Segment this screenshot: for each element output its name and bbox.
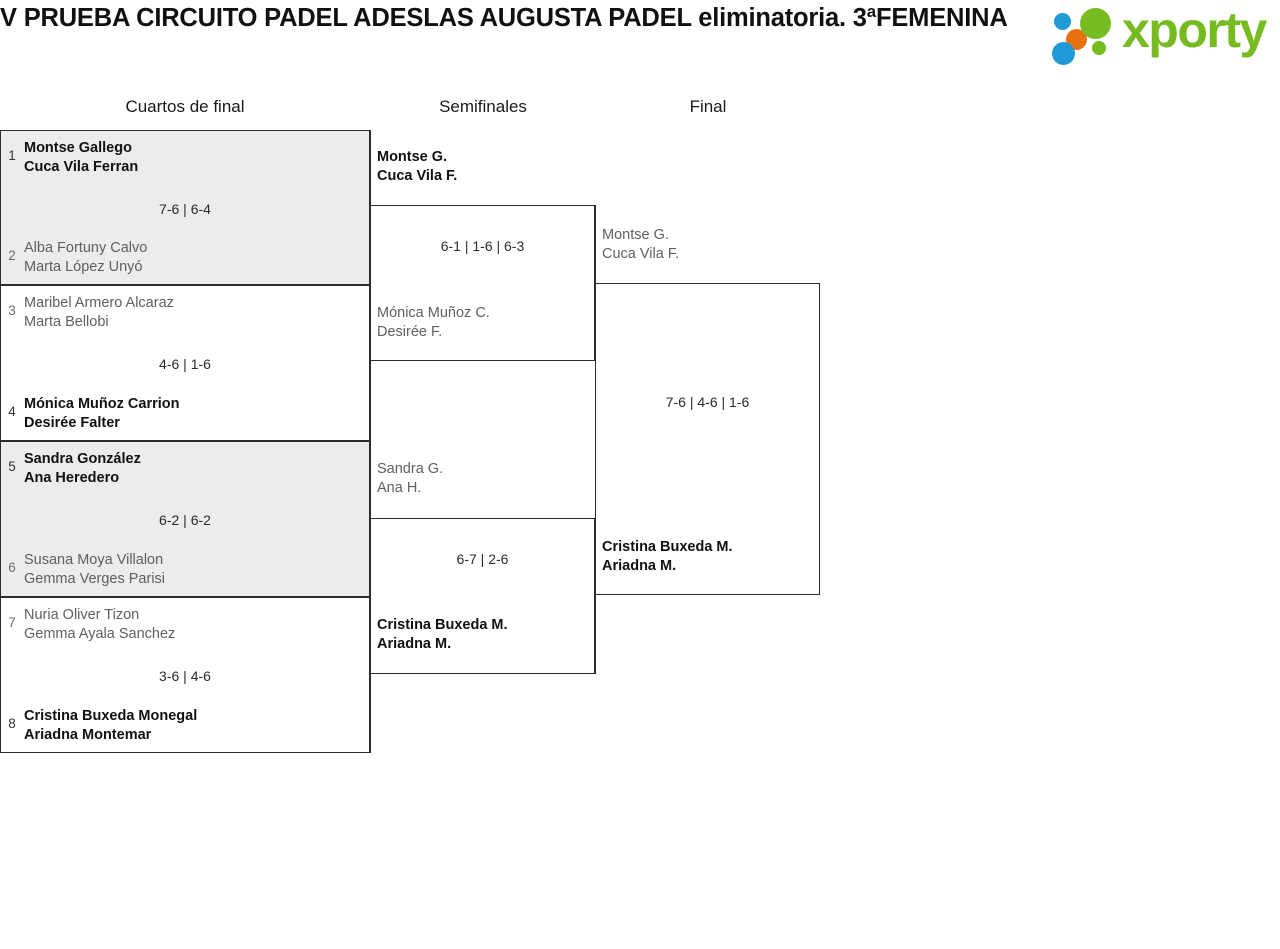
match-qf-3[interactable]: 5 Sandra González Ana Heredero 6-2 | 6-2… bbox=[0, 441, 370, 597]
player-name: Montse G. bbox=[377, 149, 447, 165]
team-qf-4-bottom[interactable]: 8 Cristina Buxeda Monegal Ariadna Montem… bbox=[0, 707, 197, 744]
player-name: Ariadna M. bbox=[602, 558, 676, 574]
bracket-connector-final-bottom bbox=[595, 595, 596, 674]
match-score: 4-6 | 1-6 bbox=[0, 355, 370, 373]
team-qf-1-top[interactable]: 1 Montse Gallego Cuca Vila Ferran bbox=[0, 139, 138, 176]
bracket-connector-sf-middle bbox=[370, 361, 371, 518]
bracket-rail-left bbox=[0, 130, 1, 753]
player-name: Desirée Falter bbox=[24, 414, 179, 433]
player-name: Ana H. bbox=[377, 480, 421, 496]
player-name: Maribel Armero Alcaraz bbox=[24, 294, 174, 313]
bracket-connector-sf2-bottom bbox=[370, 674, 371, 753]
team-names: Sandra González Ana Heredero bbox=[24, 450, 141, 487]
team-sf-1-bottom[interactable]: Mónica Muñoz C. Desirée F. bbox=[377, 304, 490, 341]
match-qf-4[interactable]: 7 Nuria Oliver Tizon Gemma Ayala Sanchez… bbox=[0, 597, 370, 753]
player-name: Mónica Muñoz C. bbox=[377, 305, 490, 321]
player-name: Cuca Vila F. bbox=[377, 168, 457, 184]
player-name: Sandra González bbox=[24, 450, 141, 469]
player-name: Ariadna M. bbox=[377, 636, 451, 652]
player-name: Cuca Vila F. bbox=[602, 246, 679, 262]
team-final-top[interactable]: Montse G. Cuca Vila F. bbox=[602, 226, 679, 263]
tournament-bracket: 1 Montse Gallego Cuca Vila Ferran 7-6 | … bbox=[0, 0, 1280, 949]
player-name: Montse G. bbox=[602, 227, 669, 243]
player-name: Ana Heredero bbox=[24, 469, 141, 488]
team-qf-3-bottom[interactable]: 6 Susana Moya Villalon Gemma Verges Pari… bbox=[0, 551, 165, 588]
seed-number: 7 bbox=[0, 606, 24, 632]
team-names: Susana Moya Villalon Gemma Verges Parisi bbox=[24, 551, 165, 588]
team-qf-4-top[interactable]: 7 Nuria Oliver Tizon Gemma Ayala Sanchez bbox=[0, 606, 175, 643]
player-name: Desirée F. bbox=[377, 324, 442, 340]
bracket-connector-sf1-top bbox=[370, 130, 371, 205]
team-sf-1-top[interactable]: Montse G. Cuca Vila F. bbox=[377, 148, 457, 185]
match-qf-2[interactable]: 3 Maribel Armero Alcaraz Marta Bellobi 4… bbox=[0, 285, 370, 441]
player-name: Gemma Verges Parisi bbox=[24, 570, 165, 589]
seed-number: 1 bbox=[0, 139, 24, 165]
team-sf-2-bottom[interactable]: Cristina Buxeda M. Ariadna M. bbox=[377, 616, 508, 653]
seed-number: 4 bbox=[0, 395, 24, 421]
team-qf-3-top[interactable]: 5 Sandra González Ana Heredero bbox=[0, 450, 141, 487]
team-names: Montse Gallego Cuca Vila Ferran bbox=[24, 139, 138, 176]
team-names: Maribel Armero Alcaraz Marta Bellobi bbox=[24, 294, 174, 331]
player-name: Montse Gallego bbox=[24, 139, 138, 158]
player-name: Gemma Ayala Sanchez bbox=[24, 625, 175, 644]
bracket-page: V PRUEBA CIRCUITO PADEL ADESLAS AUGUSTA … bbox=[0, 0, 1280, 949]
team-names: Alba Fortuny Calvo Marta López Unyó bbox=[24, 239, 147, 276]
match-qf-1[interactable]: 1 Montse Gallego Cuca Vila Ferran 7-6 | … bbox=[0, 130, 370, 285]
team-qf-2-bottom[interactable]: 4 Mónica Muñoz Carrion Desirée Falter bbox=[0, 395, 179, 432]
match-score: 7-6 | 4-6 | 1-6 bbox=[596, 393, 819, 411]
match-score: 6-1 | 1-6 | 6-3 bbox=[371, 237, 594, 255]
player-name: Marta Bellobi bbox=[24, 313, 174, 332]
match-score: 6-2 | 6-2 bbox=[0, 511, 370, 529]
team-names: Nuria Oliver Tizon Gemma Ayala Sanchez bbox=[24, 606, 175, 643]
seed-number: 5 bbox=[0, 450, 24, 476]
player-name: Cristina Buxeda M. bbox=[377, 617, 508, 633]
team-sf-2-top[interactable]: Sandra G. Ana H. bbox=[377, 460, 443, 497]
player-name: Cristina Buxeda Monegal bbox=[24, 707, 197, 726]
player-name: Cristina Buxeda M. bbox=[602, 539, 733, 555]
team-names: Mónica Muñoz Carrion Desirée Falter bbox=[24, 395, 179, 432]
team-qf-2-top[interactable]: 3 Maribel Armero Alcaraz Marta Bellobi bbox=[0, 294, 174, 331]
player-name: Cuca Vila Ferran bbox=[24, 158, 138, 177]
match-score: 6-7 | 2-6 bbox=[371, 550, 594, 568]
seed-number: 3 bbox=[0, 294, 24, 320]
bracket-connector-final-top bbox=[595, 205, 596, 283]
team-qf-1-bottom[interactable]: 2 Alba Fortuny Calvo Marta López Unyó bbox=[0, 239, 147, 276]
player-name: Alba Fortuny Calvo bbox=[24, 239, 147, 258]
match-score: 3-6 | 4-6 bbox=[0, 667, 370, 685]
player-name: Susana Moya Villalon bbox=[24, 551, 165, 570]
seed-number: 6 bbox=[0, 551, 24, 577]
player-name: Ariadna Montemar bbox=[24, 726, 197, 745]
match-score: 7-6 | 6-4 bbox=[0, 200, 370, 218]
seed-number: 2 bbox=[0, 239, 24, 265]
player-name: Mónica Muñoz Carrion bbox=[24, 395, 179, 414]
player-name: Sandra G. bbox=[377, 461, 443, 477]
player-name: Marta López Unyó bbox=[24, 258, 147, 277]
player-name: Nuria Oliver Tizon bbox=[24, 606, 175, 625]
team-final-bottom[interactable]: Cristina Buxeda M. Ariadna M. bbox=[602, 538, 733, 575]
seed-number: 8 bbox=[0, 707, 24, 733]
team-names: Cristina Buxeda Monegal Ariadna Montemar bbox=[24, 707, 197, 744]
